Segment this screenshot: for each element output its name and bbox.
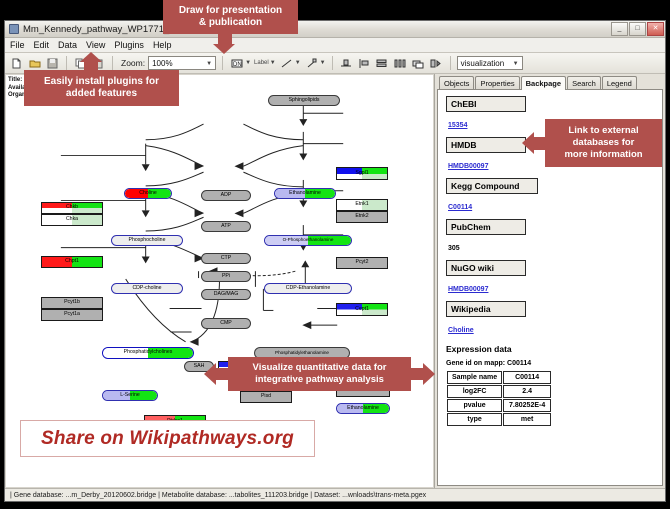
node-pcyt1a[interactable]: Pcyt1a — [41, 309, 103, 321]
table-row: Sample name C00114 — [447, 371, 551, 384]
callout-plugins-arrow — [80, 52, 102, 62]
chevron-down-icon-visualization: ▼ — [513, 61, 519, 67]
cell-value: 7.80252E-4 — [503, 399, 551, 412]
screenshot-root: Mm_Kennedy_pathway_WP1771_45176.gpml _ □… — [0, 0, 670, 509]
toolbar-separator-4 — [332, 56, 333, 70]
backpage-value-pubchem: 305 — [448, 245, 460, 252]
align-top-icon[interactable] — [339, 56, 354, 71]
callout-plugins: Easily install plugins for added feature… — [24, 70, 179, 106]
cell-value: 2.4 — [503, 385, 551, 398]
cell-value: C00114 — [503, 371, 551, 384]
node-label: Pcyt2 — [356, 260, 369, 265]
zoom-value: 100% — [152, 59, 172, 68]
callout-share: Share on Wikipathways.org — [20, 420, 315, 457]
callout-visualize-arrow-left — [204, 363, 216, 385]
datanode-tool[interactable]: DN ▼ — [229, 56, 251, 71]
node-pcyt1b[interactable]: Pcyt1b — [41, 297, 103, 309]
node-label: Pisd — [261, 394, 271, 399]
expression-data-heading: Expression data — [446, 344, 662, 354]
node-chka[interactable]: Chka — [41, 214, 103, 226]
node-label: Etnk2 — [355, 214, 368, 219]
table-row: pvalue 7.80252E-4 — [447, 399, 551, 412]
node-label: Pcyt1a — [64, 312, 80, 317]
visualization-combo[interactable]: visualization ▼ — [457, 56, 523, 70]
callout-draw-publication-stem — [218, 34, 232, 44]
callout-external-links: Link to external databases for more info… — [545, 119, 662, 167]
menu-help[interactable]: Help — [153, 40, 172, 50]
table-row: type met — [447, 413, 551, 426]
expression-table: Sample name C00114 log2FC 2.4 pvalue 7.8… — [446, 370, 552, 427]
node-label: CTP — [221, 256, 231, 261]
chevron-down-icon: ▼ — [206, 61, 212, 67]
new-icon[interactable] — [9, 56, 24, 71]
backpage-section-wikipedia: Wikipedia — [446, 301, 526, 317]
menu-file[interactable]: File — [10, 40, 25, 50]
node-cdp-ethanolamine[interactable]: CDP-Ethanolamine — [264, 283, 352, 294]
cell-key: log2FC — [447, 385, 502, 398]
cell-value: met — [503, 413, 551, 426]
callout-line-2: & publication — [199, 17, 262, 29]
order-back-icon[interactable] — [429, 56, 444, 71]
callout-line-3: more information — [564, 149, 642, 161]
app-icon — [9, 24, 19, 34]
backpage-link-kegg[interactable]: C00114 — [448, 204, 472, 211]
label-tool[interactable]: Label ▼ — [254, 60, 276, 66]
node-ethanolamine-top[interactable]: Ethanolamine — [274, 188, 336, 199]
callout-line-1: Link to external — [568, 125, 638, 137]
node-sphingolipids[interactable]: Sphingolipids — [268, 95, 340, 106]
close-button[interactable]: ✕ — [647, 22, 664, 36]
node-label: Sgpl1 — [355, 171, 368, 176]
menu-data[interactable]: Data — [58, 40, 77, 50]
tab-backpage[interactable]: Backpage — [521, 76, 566, 90]
toolbar-separator — [66, 56, 67, 70]
cell-key: pvalue — [447, 399, 502, 412]
node-atp[interactable]: ATP — [201, 221, 251, 232]
node-dag-mag[interactable]: DAG/MAG — [201, 289, 251, 300]
node-chpt1[interactable]: Chpt1 — [41, 256, 103, 268]
cell-key: type — [447, 413, 502, 426]
node-sgpl1[interactable]: Sgpl1 — [336, 167, 388, 180]
order-front-icon[interactable] — [411, 56, 426, 71]
callout-line-2: integrative pathway analysis — [255, 374, 384, 386]
toolbar-separator-3 — [222, 56, 223, 70]
node-phosphatidylcholines[interactable]: Phosphatidylcholines — [102, 347, 194, 359]
backpage-section-pubchem: PubChem — [446, 219, 526, 235]
backpage-link-nugo[interactable]: HMDB00097 — [448, 286, 488, 293]
node-label: Chpt1 — [65, 259, 79, 264]
maximize-button[interactable]: □ — [629, 22, 646, 36]
menu-view[interactable]: View — [86, 40, 105, 50]
callout-visualize-arrow-right — [423, 363, 435, 385]
zoom-label: Zoom: — [121, 58, 145, 68]
stack-icon[interactable] — [375, 56, 390, 71]
tab-objects[interactable]: Objects — [439, 76, 474, 89]
node-label: SAH — [194, 364, 205, 369]
datanode-icon[interactable]: DN — [229, 56, 244, 71]
node-o-phosphoethanolamine[interactable]: O-Phosphoethanolamine — [264, 235, 352, 246]
node-label: DAG/MAG — [214, 292, 239, 297]
callout-draw-publication-arrow — [213, 44, 235, 54]
backpage-section-kegg: Kegg Compound — [446, 178, 538, 194]
node-label: Cept1 — [355, 307, 369, 312]
node-label: PPi — [222, 274, 230, 279]
node-chkb[interactable]: Chkb — [41, 202, 103, 214]
node-label: Phosphatidylethanolamine — [275, 351, 329, 356]
node-label: L-Serine — [120, 393, 140, 398]
node-ctp[interactable]: CTP — [201, 253, 251, 264]
shape-tool[interactable]: ▼ — [304, 56, 326, 71]
node-pcyt2[interactable]: Pcyt2 — [336, 257, 388, 269]
save-icon[interactable] — [45, 56, 60, 71]
svg-text:DN: DN — [233, 62, 242, 68]
gene-id-line: Gene id on mapp: C00114 — [446, 360, 662, 367]
table-row: log2FC 2.4 — [447, 385, 551, 398]
node-label: CDP-choline — [132, 286, 161, 291]
node-label: Chkb — [66, 205, 78, 210]
align-left-icon[interactable] — [357, 56, 372, 71]
node-adp[interactable]: ADP — [201, 190, 251, 201]
zoom-combo[interactable]: 100% ▼ — [148, 56, 216, 70]
node-label: ADP — [221, 193, 232, 198]
callout-visualize: Visualize quantitative data for integrat… — [228, 357, 411, 391]
callout-external-arrow — [522, 132, 534, 154]
line-tool[interactable]: ▼ — [279, 56, 301, 71]
node-label: Etnk1 — [355, 202, 368, 207]
node-ethanolamine-right[interactable]: Ethanolamine — [336, 403, 390, 414]
toolbar-separator-2 — [112, 56, 113, 70]
node-etnk1[interactable]: Etnk1 — [336, 199, 388, 211]
statusbar: | Gene database: ...m_Derby_20120602.bri… — [5, 488, 665, 501]
node-cmp[interactable]: CMP — [201, 318, 251, 329]
node-cdp-choline[interactable]: CDP-choline — [111, 283, 183, 294]
node-label: Choline — [139, 191, 157, 196]
backpage-section-hmdb: HMDB — [446, 137, 526, 153]
node-label: ATP — [221, 224, 231, 229]
node-label: CMP — [220, 321, 232, 326]
node-phosphocholine[interactable]: Phosphocholine — [111, 235, 183, 246]
node-label: O-Phosphoethanolamine — [283, 238, 334, 243]
menu-edit[interactable]: Edit — [34, 40, 50, 50]
backpage-section-nugo: NuGO wiki — [446, 260, 526, 276]
node-choline-top[interactable]: Choline — [124, 188, 172, 199]
callout-visualize-stem-right — [410, 368, 423, 380]
cell-key: Sample name — [447, 371, 502, 384]
line-icon[interactable] — [279, 56, 294, 71]
node-label: Ethanolamine — [347, 406, 379, 411]
node-pisd[interactable]: Pisd — [240, 391, 292, 403]
callout-line-2: added features — [66, 88, 137, 100]
node-label: CDP-Ethanolamine — [286, 286, 330, 291]
node-label: Phosphatidylcholines — [124, 350, 173, 355]
backpage-link-hmdb[interactable]: HMDB00097 — [448, 163, 488, 170]
share-text: Share on Wikipathways.org — [41, 428, 294, 450]
tab-legend[interactable]: Legend — [602, 76, 637, 89]
window-controls[interactable]: _ □ ✕ — [611, 22, 664, 36]
window-titlebar: Mm_Kennedy_pathway_WP1771_45176.gpml _ □… — [5, 21, 665, 38]
chevron-down-icon-line[interactable]: ▼ — [295, 60, 301, 66]
backpage-link-chebi[interactable]: 15354 — [448, 122, 467, 129]
menu-plugins[interactable]: Plugins — [114, 40, 144, 50]
node-cept1[interactable]: Cept1 — [336, 303, 388, 316]
open-icon[interactable] — [27, 56, 42, 71]
node-ppi[interactable]: PPi — [201, 271, 251, 282]
toolbar-separator-5 — [450, 56, 451, 70]
statusbar-text: | Gene database: ...m_Derby_20120602.bri… — [10, 492, 426, 499]
callout-draw-publication: Draw for presentation & publication — [163, 0, 298, 34]
node-label: Chka — [66, 217, 78, 222]
callout-line-1: Easily install plugins for — [44, 76, 159, 88]
callout-line-1: Visualize quantitative data for — [253, 362, 387, 374]
tab-properties[interactable]: Properties — [475, 76, 519, 89]
distribute-icon[interactable] — [393, 56, 408, 71]
callout-line-1: Draw for presentation — [179, 5, 282, 17]
node-l-serine-left[interactable]: L-Serine — [102, 390, 158, 401]
chevron-down-icon-datanode[interactable]: ▼ — [245, 60, 251, 66]
chevron-down-icon-label[interactable]: ▼ — [270, 60, 276, 66]
chevron-down-icon-shape[interactable]: ▼ — [320, 60, 326, 66]
minimize-button[interactable]: _ — [611, 22, 628, 36]
menubar[interactable]: File Edit Data View Plugins Help — [5, 38, 665, 53]
backpage-section-chebi: ChEBI — [446, 96, 526, 112]
node-label: Phosphocholine — [129, 238, 166, 243]
tab-search[interactable]: Search — [567, 76, 601, 89]
label-tool-label: Label — [254, 60, 269, 66]
callout-line-2: databases for — [573, 137, 635, 149]
node-label: Ethanolamine — [289, 191, 321, 196]
side-panel-tabs[interactable]: Objects Properties Backpage Search Legen… — [437, 75, 663, 90]
node-label: Pcyt1b — [64, 300, 80, 305]
anchor-icon[interactable] — [304, 56, 319, 71]
visualization-value: visualization — [461, 59, 505, 68]
node-label: Sphingolipids — [289, 98, 320, 103]
node-etnk2[interactable]: Etnk2 — [336, 211, 388, 223]
backpage-link-wikipedia[interactable]: Choline — [448, 327, 474, 334]
